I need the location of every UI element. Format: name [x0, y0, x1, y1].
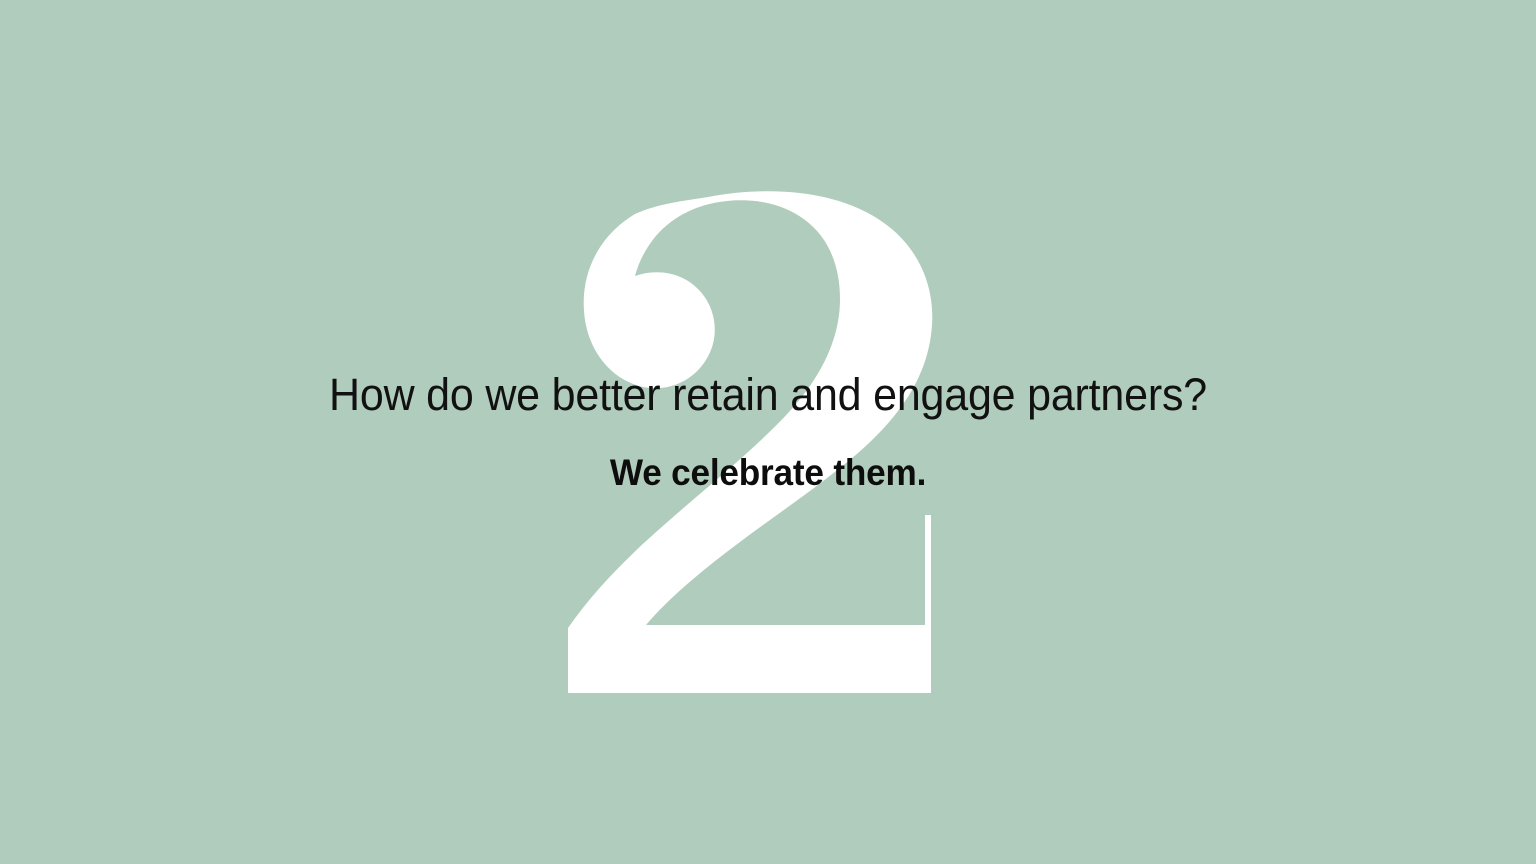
slide-headline: How do we better retain and engage partn… [35, 370, 1502, 420]
slide-text-layer: How do we better retain and engage partn… [0, 0, 1536, 864]
slide-canvas: How do we better retain and engage partn… [0, 0, 1536, 864]
slide-subheadline: We celebrate them. [38, 452, 1497, 493]
